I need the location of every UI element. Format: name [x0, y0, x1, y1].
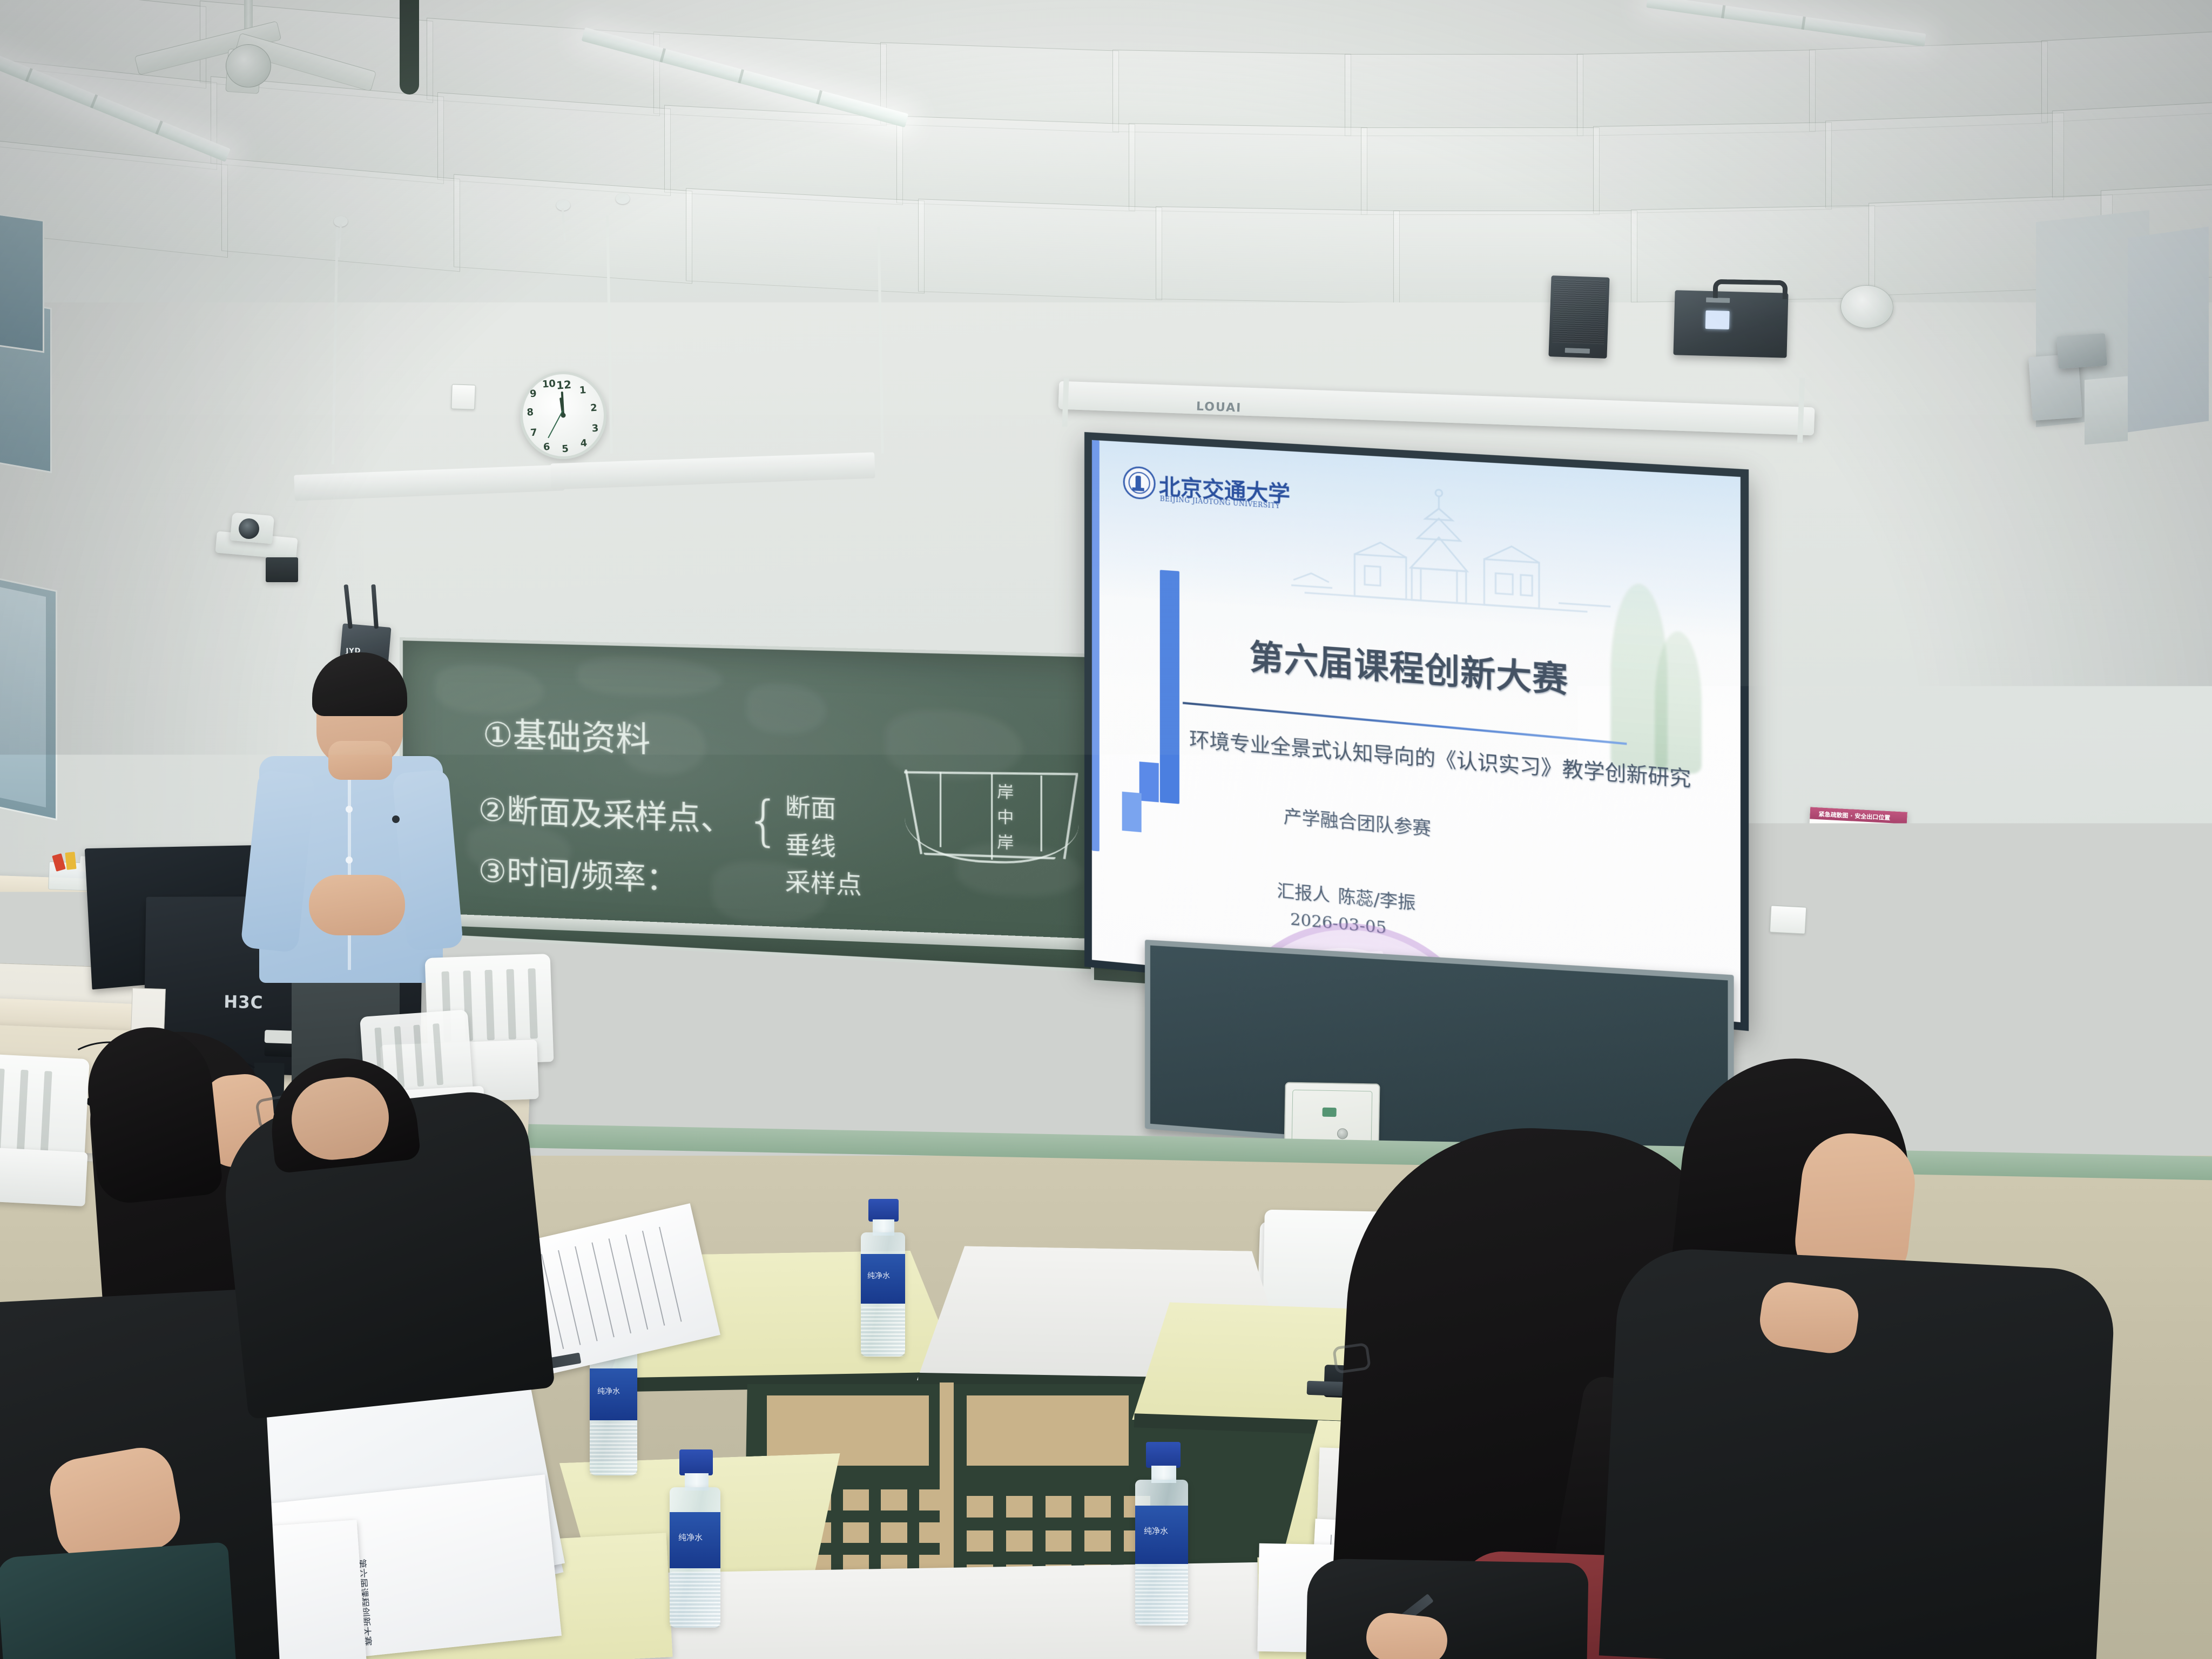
blackboard-line: ①基础资料 [483, 707, 651, 762]
bottle-cap[interactable] [1146, 1442, 1181, 1468]
qr-code-image[interactable] [1812, 899, 1845, 928]
slide-presenter-names: 陈蕊/李振 [1338, 882, 1415, 915]
bottle-ribs [670, 1572, 720, 1628]
panel-label-badge [1322, 1108, 1336, 1117]
clock-numeral: 9 [529, 388, 537, 400]
ceiling-tile [1361, 127, 1600, 215]
diagram-vertical [1041, 775, 1042, 852]
clock-numeral: 12 [556, 378, 571, 392]
presenter-neck [328, 741, 392, 780]
clock-numeral: 8 [527, 407, 534, 419]
ceiling-tile [1593, 122, 1832, 214]
presentation-slide: 北京交通大学 BEIJING JIAOTONG UNIVERSITY 第六届课程… [1092, 440, 1741, 1022]
slide-left-edge-bar [1092, 440, 1100, 852]
wall-mounted-bracket [2056, 333, 2107, 369]
ceiling-tile [918, 199, 1162, 300]
judge-sleeve-pattern [0, 1542, 236, 1659]
bottle-ribs [1135, 1567, 1188, 1626]
judge-jacket-right [1599, 1245, 2117, 1659]
blackboard-brace: { [746, 788, 781, 853]
bottle-label-text: 纯净水 [597, 1386, 620, 1397]
bottle-cap[interactable] [679, 1449, 713, 1475]
clock-numeral: 10 [542, 378, 556, 390]
slide-team-line: 产学融合团队参赛 [1284, 802, 1431, 841]
qr-title: 扫码查看 [1814, 892, 1829, 898]
ceiling-tile [1825, 112, 2064, 208]
bottle-label-text: 纯净水 [678, 1532, 703, 1543]
clock-center-pin [561, 413, 566, 418]
power-outlet[interactable] [1006, 1090, 1032, 1121]
qr-title: 扫码报修 [1854, 894, 1869, 900]
fan-hub [226, 44, 271, 87]
blackboard-brace-item: 断面 [785, 787, 836, 825]
ceiling-tile [1345, 54, 1583, 136]
ceiling-tile [454, 174, 692, 284]
clock-numeral: 1 [579, 385, 586, 396]
bottle-label-text: 纯净水 [867, 1270, 890, 1281]
clock-numeral: 6 [543, 441, 550, 453]
hanging-rod [400, 0, 419, 95]
speaker-brand-badge [1565, 348, 1590, 354]
wall-plate-right[interactable] [1770, 905, 1807, 934]
shirt-button [346, 806, 353, 813]
diagram-label: 岸 [997, 780, 1014, 804]
classroom-scene: 12 1 2 3 4 5 6 7 8 9 10 JYD ①基础资料 ②断面及采样… [0, 0, 2212, 1659]
blackboard-line: ③时间/频率： [478, 845, 679, 900]
bottle-ribs [590, 1424, 637, 1475]
screen-brand-label: LOUAI [1196, 400, 1242, 415]
judge-shoulder-front-right [1306, 1558, 1588, 1659]
classroom-chair-seat[interactable] [0, 1146, 87, 1206]
presenter-hands [309, 875, 405, 935]
slide-tree-decor [1655, 630, 1702, 774]
wall-switch-plate[interactable] [451, 384, 476, 410]
projector-cable-loop [1713, 279, 1788, 299]
shirt-placket [348, 759, 351, 970]
ceiling-tile [896, 116, 1135, 211]
wall-board-right [2128, 226, 2209, 432]
right-wall-lower [2128, 1137, 2212, 1433]
ceiling-tile [1156, 206, 1400, 304]
bottle-label-text: 纯净水 [1144, 1525, 1168, 1536]
right-wall-panel [2095, 879, 2212, 1173]
blackboard-brace-item: 垂线 [785, 825, 836, 863]
lapel-microphone [392, 815, 400, 823]
clock-numeral: 5 [562, 443, 569, 455]
ceiling-projector-unit [1673, 290, 1788, 358]
wall-speaker [1548, 275, 1609, 359]
window-frame-top [0, 212, 44, 353]
campus-silhouette [1271, 476, 1622, 660]
diagram-label: 中 [997, 805, 1014, 828]
bottle-cap[interactable] [868, 1199, 899, 1222]
clock-numeral: 2 [590, 402, 597, 414]
monitor-brand-label: H3C [224, 992, 264, 1013]
slide-presenter-label: 汇报人 [1277, 877, 1330, 907]
foreground-desk-top [625, 1561, 1330, 1659]
projection-screen-frame: 北京交通大学 BEIJING JIAOTONG UNIVERSITY 第六届课程… [1084, 432, 1749, 1031]
bottle-ribs [861, 1307, 905, 1357]
diagram-vertical [940, 772, 941, 847]
qr-code-panel: 扫码查看 扫码报修 [1805, 889, 1889, 941]
window-glass [0, 586, 46, 807]
blackboard-brace-item: 采样点 [785, 862, 862, 901]
clock-numeral: 7 [530, 427, 537, 439]
camera-bracket [266, 557, 298, 582]
eyeglasses [1332, 1343, 1371, 1374]
ceiling-hook [616, 193, 630, 204]
marker-pen[interactable] [65, 852, 76, 870]
clock-numeral: 3 [591, 423, 599, 435]
desk-backboard [967, 1395, 1129, 1466]
ceiling-tile [686, 188, 925, 293]
qr-code-image[interactable] [1851, 901, 1884, 930]
evacuation-map-poster: 紧急疏散图 · 安全出口位置 [1806, 806, 1908, 876]
slide-accent-square [1139, 761, 1159, 802]
qr-caption-line [1812, 931, 1870, 936]
diagram-label: 岸 [997, 830, 1014, 854]
ceiling-tile [1129, 123, 1367, 215]
ceiling-tile [2052, 99, 2212, 198]
diagram-vertical [991, 774, 993, 860]
shirt-button [346, 857, 353, 864]
slide-accent-bar [1160, 570, 1179, 804]
wall-panel-right [2085, 376, 2128, 445]
clock-numeral: 4 [580, 437, 588, 449]
projector-status-display [1705, 311, 1730, 329]
slide-accent-square [1122, 792, 1142, 832]
